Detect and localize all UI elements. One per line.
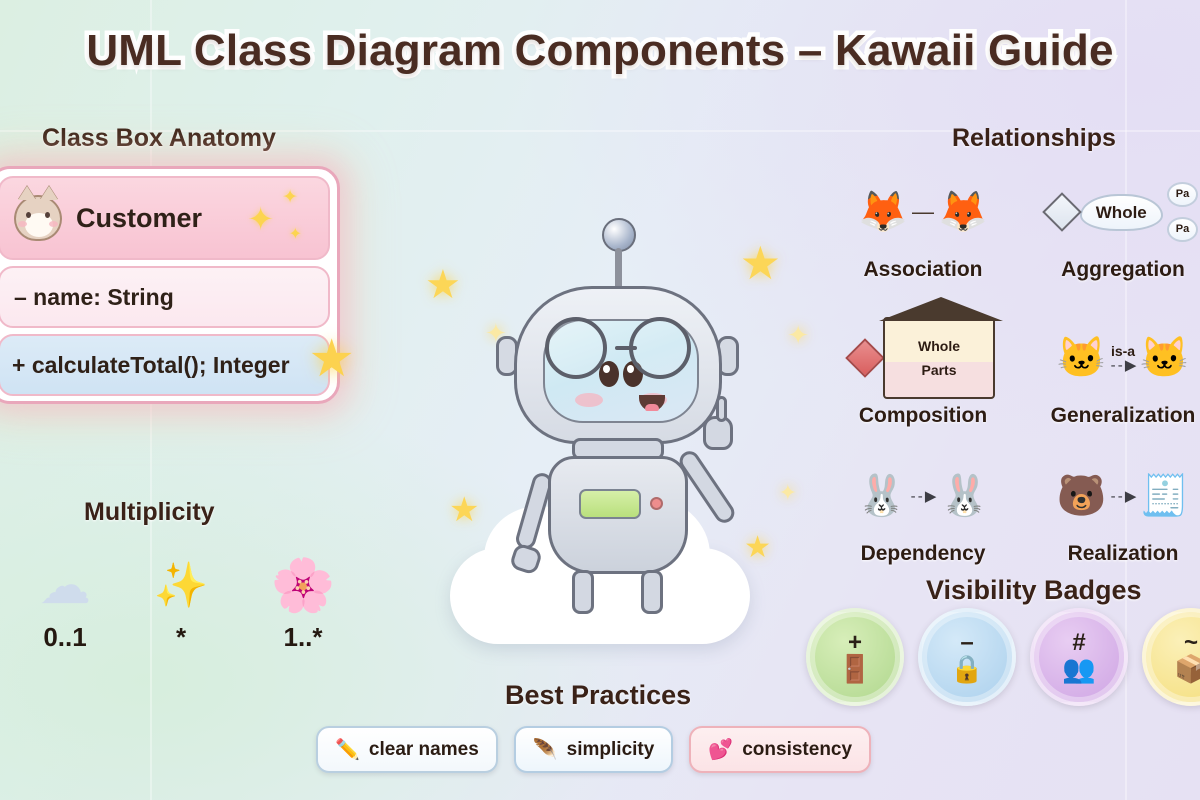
- robot-mouth: [639, 395, 665, 411]
- robot-blush: [575, 393, 603, 407]
- solid-line-connector: —: [912, 201, 934, 223]
- two-bunnies-icon: 🐰 - - ▶ 🐰: [830, 450, 1016, 542]
- star-icon: ★: [308, 329, 355, 389]
- class-box-attributes: – name: String: [0, 266, 330, 328]
- best-practice-label: clear names: [369, 739, 479, 761]
- status-badge-protected: # 👥: [1030, 608, 1128, 706]
- hollow-diamond-icon: [1042, 192, 1082, 232]
- relationship-composition: Whole Parts Composition: [830, 312, 1016, 438]
- section-heading-relationships: Relationships: [952, 124, 1116, 153]
- robot-eye: [599, 361, 619, 387]
- is-a-label: is-a: [1111, 344, 1135, 358]
- house-icon: Whole Parts: [883, 317, 995, 399]
- two-foxes-icon: 🦊 — 🦊: [830, 166, 1016, 258]
- parts-label: Parts: [921, 363, 956, 377]
- relationship-generalization: 🐱 is-a - - ▶ 🐱 Generalization: [1030, 312, 1200, 438]
- multiplicity-item: ☁ 0..1: [10, 556, 120, 653]
- relationship-aggregation: Whole Pa Pa Aggregation: [1030, 166, 1200, 292]
- fox-icon: 🦊: [938, 192, 988, 232]
- robot-body: [548, 456, 688, 574]
- bear-interface-icon: 🐻 - - ▶ 🧾: [1030, 450, 1200, 542]
- best-practice-pill-simplicity: 🪶 simplicity: [514, 726, 674, 773]
- relationship-caption: Realization: [1030, 542, 1200, 566]
- class-box-methods: + calculateTotal(); Integer: [0, 334, 330, 396]
- star-icon: ★: [449, 490, 479, 530]
- class-box-header: Customer ✦ ✦ ✦: [0, 176, 330, 260]
- cat-icon: 🐱: [1057, 338, 1107, 378]
- house-whole-parts-icon: Whole Parts: [830, 312, 1016, 404]
- visibility-symbol: +: [848, 631, 862, 655]
- cat-icon: 🐱: [1139, 338, 1189, 378]
- multiplicity-label: *: [126, 622, 236, 653]
- sparkle-icon: ✦: [247, 200, 274, 238]
- cloud-whole-parts-icon: Whole Pa Pa: [1030, 166, 1200, 258]
- page-title: UML Class Diagram Components – Kawaii Gu…: [0, 26, 1200, 76]
- status-badge-private: – 🔒: [918, 608, 1016, 706]
- best-practice-label: simplicity: [567, 739, 655, 761]
- fox-icon: 🦊: [858, 192, 908, 232]
- relationship-caption: Aggregation: [1030, 258, 1200, 282]
- pencil-icon: ✏️: [335, 737, 360, 762]
- section-heading-multiplicity: Multiplicity: [84, 498, 215, 527]
- people-icon: 👥: [1062, 656, 1096, 683]
- best-practice-pill-consistency: 💕 consistency: [689, 726, 871, 773]
- glasses-bridge: [615, 346, 637, 350]
- relationships-grid: 🦊 — 🦊 Association Whole Pa Pa Aggregatio…: [830, 166, 1200, 570]
- robot-leg: [641, 570, 663, 614]
- multiplicity-label: 1..*: [248, 622, 358, 653]
- package-icon: 📦: [1174, 656, 1200, 683]
- poster-canvas: UML Class Diagram Components – Kawaii Gu…: [0, 0, 1200, 800]
- part-label: Pa: [1167, 182, 1198, 207]
- star-icon: ★: [425, 262, 461, 308]
- visibility-symbol: ~: [1184, 631, 1198, 655]
- multiplicity-label: 0..1: [10, 622, 120, 653]
- cat-avatar-icon: [14, 195, 62, 241]
- class-box: Customer ✦ ✦ ✦ – name: String + calculat…: [0, 166, 340, 404]
- relationship-caption: Generalization: [1030, 404, 1200, 428]
- relationship-caption: Association: [830, 258, 1016, 282]
- glasses-icon: [545, 317, 607, 379]
- bunny-icon: 🐰: [857, 476, 907, 516]
- bunny-icon: 🐰: [939, 476, 989, 516]
- star-icon: ★: [740, 236, 781, 290]
- cloud-star-icon: ☁: [10, 556, 120, 616]
- best-practice-label: consistency: [742, 739, 852, 761]
- section-heading-visibility-badges: Visibility Badges: [926, 575, 1142, 606]
- filled-diamond-icon: [845, 338, 885, 378]
- glasses-icon: [629, 317, 691, 379]
- hearts-icon: 💕: [708, 737, 733, 762]
- visibility-symbol: #: [1072, 631, 1085, 655]
- best-practices-row: ✏️ clear names 🪶 simplicity 💕 consistenc…: [316, 726, 871, 773]
- feather-icon: 🪶: [533, 737, 558, 762]
- cherry-blossom-icon: 🌸: [248, 556, 358, 616]
- robot-hand-left: [509, 542, 544, 575]
- robot-icon: [510, 210, 725, 580]
- visibility-badges-row: + 🚪 – 🔒 # 👥 ~ 📦: [806, 608, 1200, 718]
- sparkles-icon: ✨: [126, 556, 236, 616]
- sparkle-icon: ✦: [779, 480, 797, 506]
- section-heading-best-practices: Best Practices: [505, 680, 691, 711]
- whole-label: Whole: [918, 339, 960, 353]
- class-name-label: Customer: [76, 203, 202, 234]
- antenna-ball: [602, 218, 636, 252]
- robot-head: [514, 286, 722, 444]
- dashed-arrow-icon: - - ▶: [1111, 358, 1136, 373]
- mascot-robot-on-cloud: ★ ✦ ★ ✦ ★ ✦ ★: [415, 170, 815, 670]
- robot-leg: [572, 570, 594, 614]
- open-door-icon: 🚪: [838, 656, 872, 683]
- best-practice-pill-clear-names: ✏️ clear names: [316, 726, 498, 773]
- lock-icon: 🔒: [950, 656, 984, 683]
- whole-label: Whole: [1080, 194, 1163, 231]
- status-badge-package: ~ 📦: [1142, 608, 1200, 706]
- star-icon: ★: [744, 530, 771, 565]
- relationship-caption: Composition: [830, 404, 1016, 428]
- relationship-dependency: 🐰 - - ▶ 🐰 Dependency: [830, 450, 1016, 576]
- sparkle-icon: ✦: [289, 224, 302, 244]
- robot-led-icon: [650, 497, 663, 510]
- status-badge-public: + 🚪: [806, 608, 904, 706]
- relationship-association: 🦊 — 🦊 Association: [830, 166, 1016, 292]
- dashed-arrow-icon: - - ▶: [1111, 489, 1136, 504]
- section-heading-class-box-anatomy: Class Box Anatomy: [42, 124, 276, 153]
- robot-pointing-finger: [716, 396, 727, 422]
- robot-chest-screen: [579, 489, 641, 519]
- relationship-realization: 🐻 - - ▶ 🧾 Realization: [1030, 450, 1200, 576]
- method-label: + calculateTotal(); Integer: [12, 352, 290, 379]
- part-label: Pa: [1167, 217, 1198, 242]
- visibility-symbol: –: [960, 631, 973, 655]
- interface-icon: 🧾: [1139, 476, 1189, 516]
- sparkle-icon: ✦: [282, 186, 298, 209]
- attribute-label: – name: String: [14, 284, 174, 311]
- dashed-arrow-icon: - - ▶: [911, 489, 936, 504]
- sparkle-icon: ✦: [787, 320, 809, 351]
- two-cats-is-a-icon: 🐱 is-a - - ▶ 🐱: [1030, 312, 1200, 404]
- relationship-caption: Dependency: [830, 542, 1016, 566]
- multiplicity-item: 🌸 1..*: [248, 556, 358, 653]
- bear-icon: 🐻: [1057, 476, 1107, 516]
- multiplicity-item: ✨ *: [126, 556, 236, 653]
- multiplicity-row: ★ 1 ☁ 0..1 ✨ * 🌸 1..*: [0, 556, 396, 686]
